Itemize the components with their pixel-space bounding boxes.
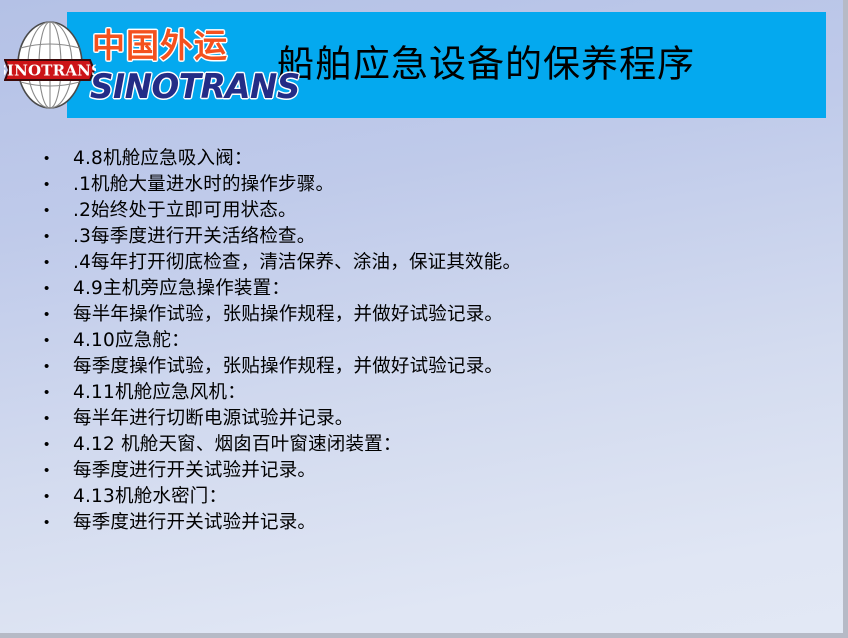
slide-body-list: • 4.8机舱应急吸入阀： • .1机舱大量进水时的操作步骤。 • .2始终处于… — [0, 146, 848, 536]
list-item-text: 4.12 机舱天窗、烟囱百叶窗速闭装置： — [73, 432, 402, 458]
list-item: • 4.10应急舵： — [0, 328, 848, 354]
list-item: • 4.13机舱水密门： — [0, 484, 848, 510]
list-item: • .2始终处于立即可用状态。 — [0, 198, 848, 224]
bullet-marker-icon: • — [44, 484, 54, 510]
list-item: • 每季度进行开关试验并记录。 — [0, 458, 848, 484]
bullet-marker-icon: • — [44, 198, 54, 224]
list-item-text: 每半年进行切断电源试验并记录。 — [73, 406, 354, 432]
list-item-text: 每季度进行开关试验并记录。 — [73, 458, 316, 484]
list-item-text: 4.11机舱应急风机： — [73, 380, 246, 406]
bullet-marker-icon: • — [44, 380, 54, 406]
list-item: • .1机舱大量进水时的操作步骤。 — [0, 172, 848, 198]
list-item: • .4每年打开彻底检查，清洁保养、涂油，保证其效能。 — [0, 250, 848, 276]
list-item-text: 4.8机舱应急吸入阀： — [73, 146, 253, 172]
list-item: • 每半年操作试验，张贴操作规程，并做好试验记录。 — [0, 302, 848, 328]
sinotrans-banner: SINOTRANS — [4, 60, 96, 80]
bullet-marker-icon: • — [44, 302, 54, 328]
list-item: • .3每季度进行开关活络检查。 — [0, 224, 848, 250]
presentation-slide: 船舶应急设备的保养程序 SINOTRANS 中国外运 SINOTRANS • 4… — [0, 0, 848, 638]
slide-title: 船舶应急设备的保养程序 — [277, 45, 695, 86]
bullet-marker-icon: • — [44, 354, 54, 380]
globe-icon: SINOTRANS — [4, 18, 96, 112]
logo-company-name-cn: 中国外运 — [92, 26, 252, 66]
bullet-marker-icon: • — [44, 510, 54, 536]
list-item-text: .2始终处于立即可用状态。 — [73, 198, 297, 224]
list-item: • 每季度操作试验，张贴操作规程，并做好试验记录。 — [0, 354, 848, 380]
bullet-marker-icon: • — [44, 172, 54, 198]
list-item-text: 每半年操作试验，张贴操作规程，并做好试验记录。 — [73, 302, 503, 328]
bullet-marker-icon: • — [44, 458, 54, 484]
bullet-marker-icon: • — [44, 224, 54, 250]
list-item-text: .4每年打开彻底检查，清洁保养、涂油，保证其效能。 — [73, 250, 521, 276]
list-item: • 4.11机舱应急风机： — [0, 380, 848, 406]
sinotrans-logo: SINOTRANS — [4, 18, 96, 112]
list-item: • 每半年进行切断电源试验并记录。 — [0, 406, 848, 432]
list-item-text: 4.9主机旁应急操作装置： — [73, 276, 290, 302]
list-item-text: .1机舱大量进水时的操作步骤。 — [73, 172, 334, 198]
logo-company-name-en: SINOTRANS — [90, 66, 253, 108]
list-item: • 4.8机舱应急吸入阀： — [0, 146, 848, 172]
list-item: • 4.9主机旁应急操作装置： — [0, 276, 848, 302]
list-item-text: 4.10应急舵： — [73, 328, 190, 354]
list-item: • 4.12 机舱天窗、烟囱百叶窗速闭装置： — [0, 432, 848, 458]
list-item-text: 4.13机舱水密门： — [73, 484, 227, 510]
list-item-text: .3每季度进行开关活络检查。 — [73, 224, 315, 250]
list-item: • 每季度进行开关试验并记录。 — [0, 510, 848, 536]
bullet-marker-icon: • — [44, 328, 54, 354]
list-item-text: 每季度进行开关试验并记录。 — [73, 510, 316, 536]
bullet-marker-icon: • — [44, 146, 54, 172]
list-item-text: 每季度操作试验，张贴操作规程，并做好试验记录。 — [73, 354, 503, 380]
svg-text:SINOTRANS: SINOTRANS — [4, 62, 96, 80]
bullet-marker-icon: • — [44, 276, 54, 302]
bullet-marker-icon: • — [44, 406, 54, 432]
bullet-marker-icon: • — [44, 432, 54, 458]
bullet-marker-icon: • — [44, 250, 54, 276]
